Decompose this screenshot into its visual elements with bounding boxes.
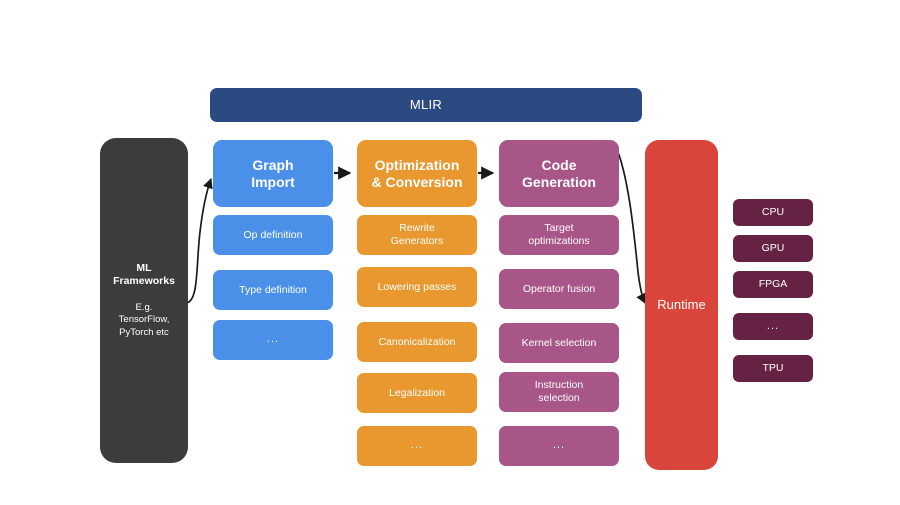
diagram-canvas: MLIR ML Frameworks E.g. TensorFlow, PyTo…: [0, 0, 900, 505]
stage-optimization-conversion: Optimization & Conversion: [357, 140, 477, 207]
mlir-banner-label: MLIR: [410, 97, 442, 113]
hardware-target-gpu-label: GPU: [762, 242, 785, 255]
item-op-definition: Op definition: [213, 215, 333, 255]
item-code-generation-more: ...: [499, 426, 619, 466]
item-instruction-selection-label: Instruction selection: [535, 379, 583, 404]
hardware-target-fpga-label: FPGA: [759, 278, 788, 291]
item-kernel-selection-label: Kernel selection: [522, 337, 597, 350]
item-lowering-passes: Lowering passes: [357, 267, 477, 307]
ml-frameworks-block: ML Frameworks E.g. TensorFlow, PyTorch e…: [100, 138, 188, 463]
item-canonicalization-label: Canonicalization: [378, 336, 455, 349]
item-optimization-more: ...: [357, 426, 477, 466]
item-graph-import-more-label: ...: [267, 333, 279, 346]
item-op-definition-label: Op definition: [244, 229, 303, 242]
arrow-frameworks-to-graph-import: [186, 179, 211, 303]
arrow-code-generation-to-runtime: [615, 145, 645, 303]
ml-frameworks-title: ML Frameworks: [113, 262, 175, 288]
item-lowering-passes-label: Lowering passes: [378, 281, 457, 294]
runtime-block: Runtime: [645, 140, 718, 470]
hardware-target-gpu: GPU: [733, 235, 813, 262]
item-type-definition: Type definition: [213, 270, 333, 310]
item-target-optimizations-label: Target optimizations: [528, 222, 589, 247]
hardware-target-cpu-label: CPU: [762, 206, 784, 219]
stage-graph-import: Graph Import: [213, 140, 333, 207]
item-type-definition-label: Type definition: [239, 284, 307, 297]
hardware-target-cpu: CPU: [733, 199, 813, 226]
item-operator-fusion: Operator fusion: [499, 269, 619, 309]
hardware-target-more: ...: [733, 313, 813, 340]
item-optimization-more-label: ...: [411, 439, 423, 452]
item-operator-fusion-label: Operator fusion: [523, 283, 595, 296]
hardware-target-more-label: ...: [767, 320, 779, 333]
item-rewrite-generators-label: Rewrite Generators: [391, 222, 444, 247]
stage-optimization-conversion-label: Optimization & Conversion: [371, 157, 462, 191]
ml-frameworks-subtitle: E.g. TensorFlow, PyTorch etc: [119, 302, 170, 339]
item-target-optimizations: Target optimizations: [499, 215, 619, 255]
item-legalization: Legalization: [357, 373, 477, 413]
item-kernel-selection: Kernel selection: [499, 323, 619, 363]
item-canonicalization: Canonicalization: [357, 322, 477, 362]
hardware-target-fpga: FPGA: [733, 271, 813, 298]
stage-code-generation-label: Code Generation: [522, 157, 596, 191]
runtime-label: Runtime: [657, 297, 705, 313]
mlir-banner: MLIR: [210, 88, 642, 122]
item-code-generation-more-label: ...: [553, 439, 565, 452]
item-rewrite-generators: Rewrite Generators: [357, 215, 477, 255]
item-instruction-selection: Instruction selection: [499, 372, 619, 412]
hardware-target-tpu: TPU: [733, 355, 813, 382]
item-legalization-label: Legalization: [389, 387, 445, 400]
item-graph-import-more: ...: [213, 320, 333, 360]
stage-graph-import-label: Graph Import: [251, 157, 295, 191]
hardware-target-tpu-label: TPU: [763, 362, 784, 375]
stage-code-generation: Code Generation: [499, 140, 619, 207]
